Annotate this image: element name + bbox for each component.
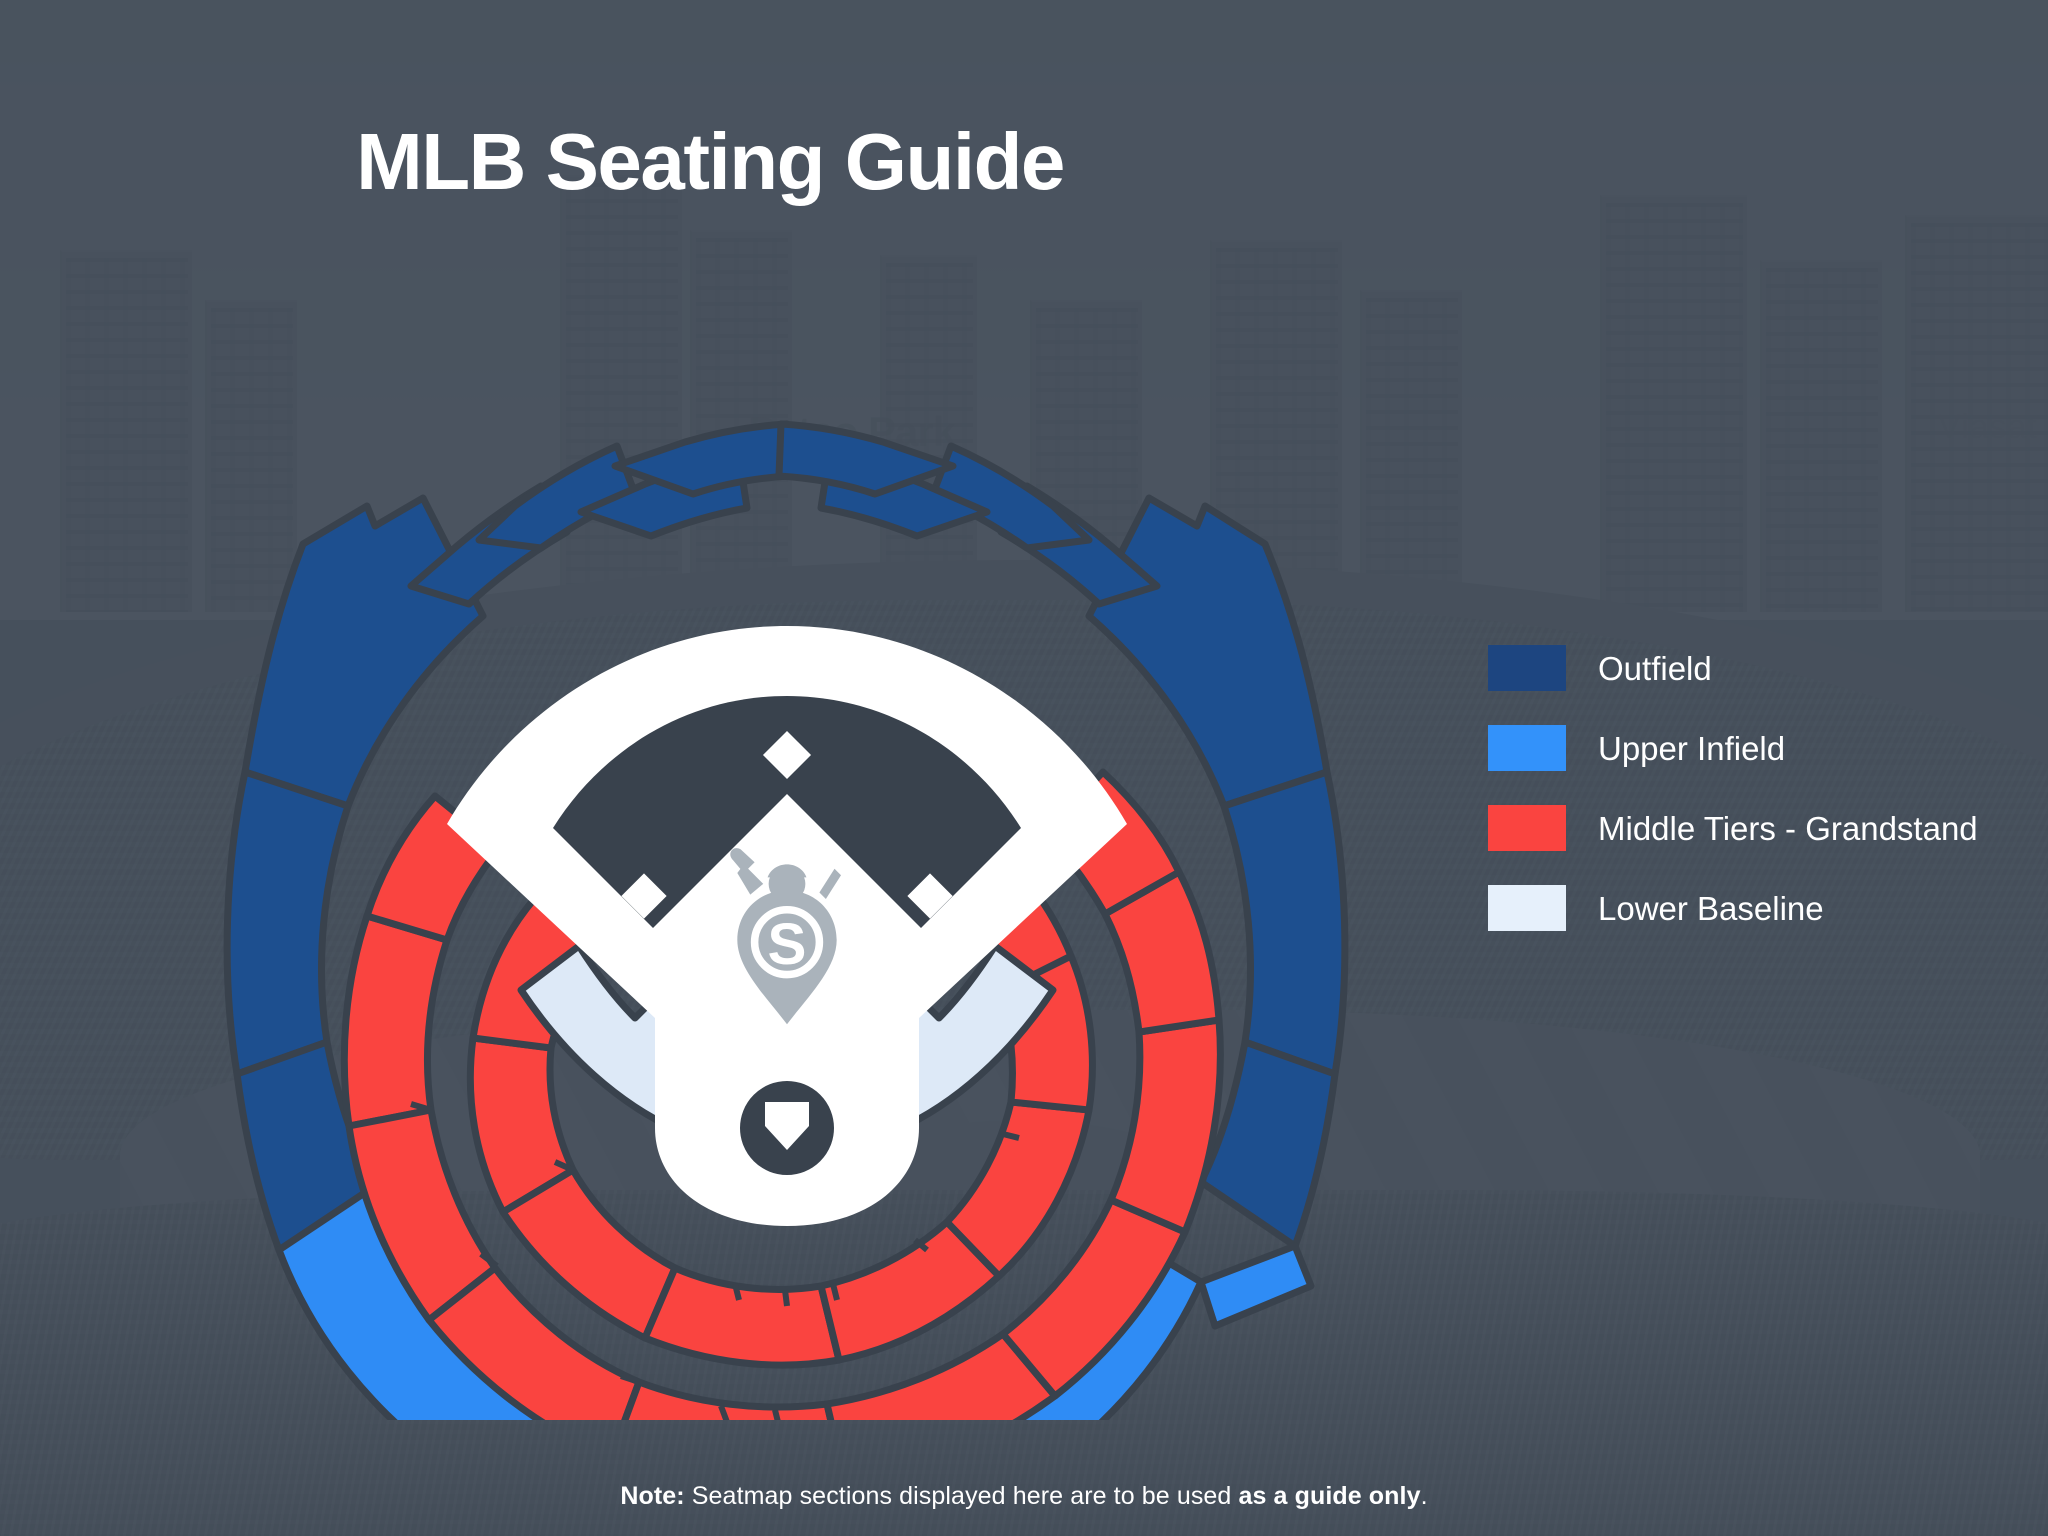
legend-swatch-upper-infield	[1488, 725, 1566, 771]
section-outfield-bleachers-top	[411, 424, 1157, 604]
footer-note-end: .	[1421, 1482, 1428, 1510]
section-grandstand[interactable]	[344, 916, 447, 1126]
section-outfield-left-lower[interactable]	[227, 772, 348, 1074]
section-grandstand[interactable]	[645, 1268, 839, 1365]
legend-item-upper-infield[interactable]: Upper Infield	[1488, 708, 2008, 788]
footer-note-body: Seatmap sections displayed here are to b…	[685, 1482, 1239, 1510]
footer-note-label: Note:	[620, 1482, 684, 1510]
section-outfield-left-upper[interactable]	[245, 498, 483, 806]
legend: Outfield Upper Infield Middle Tiers - Gr…	[1488, 628, 2008, 948]
section-upper-infield-right-wing[interactable]	[1201, 1246, 1311, 1326]
section-outfield-right-upper[interactable]	[1089, 498, 1327, 806]
legend-swatch-middle-tiers-grandstand	[1488, 805, 1566, 851]
legend-swatch-lower-baseline	[1488, 885, 1566, 931]
legend-item-middle-tiers-grandstand[interactable]: Middle Tiers - Grandstand	[1488, 788, 2008, 868]
seatmap-sections: S	[227, 424, 1345, 1420]
legend-label-upper-infield: Upper Infield	[1598, 732, 1785, 765]
legend-item-lower-baseline[interactable]: Lower Baseline	[1488, 868, 2008, 948]
legend-item-outfield[interactable]: Outfield	[1488, 628, 2008, 708]
legend-label-lower-baseline: Lower Baseline	[1598, 892, 1824, 925]
footer-note-emphasis: as a guide only	[1238, 1482, 1420, 1510]
legend-swatch-outfield	[1488, 645, 1566, 691]
footer-note: Note: Seatmap sections displayed here ar…	[0, 1482, 2048, 1511]
svg-text:S: S	[768, 912, 807, 977]
page-title: MLB Seating Guide	[0, 122, 1420, 202]
section-grandstand[interactable]	[1111, 1020, 1220, 1232]
legend-label-middle-tiers-grandstand: Middle Tiers - Grandstand	[1598, 812, 1978, 845]
section-grandstand[interactable]	[611, 1382, 845, 1420]
legend-label-outfield: Outfield	[1598, 652, 1712, 685]
section-outfield-right-lower[interactable]	[1224, 772, 1345, 1074]
seatmap-diagram: .sect { stroke:#39424d; stroke-width:7; …	[215, 420, 1355, 1420]
